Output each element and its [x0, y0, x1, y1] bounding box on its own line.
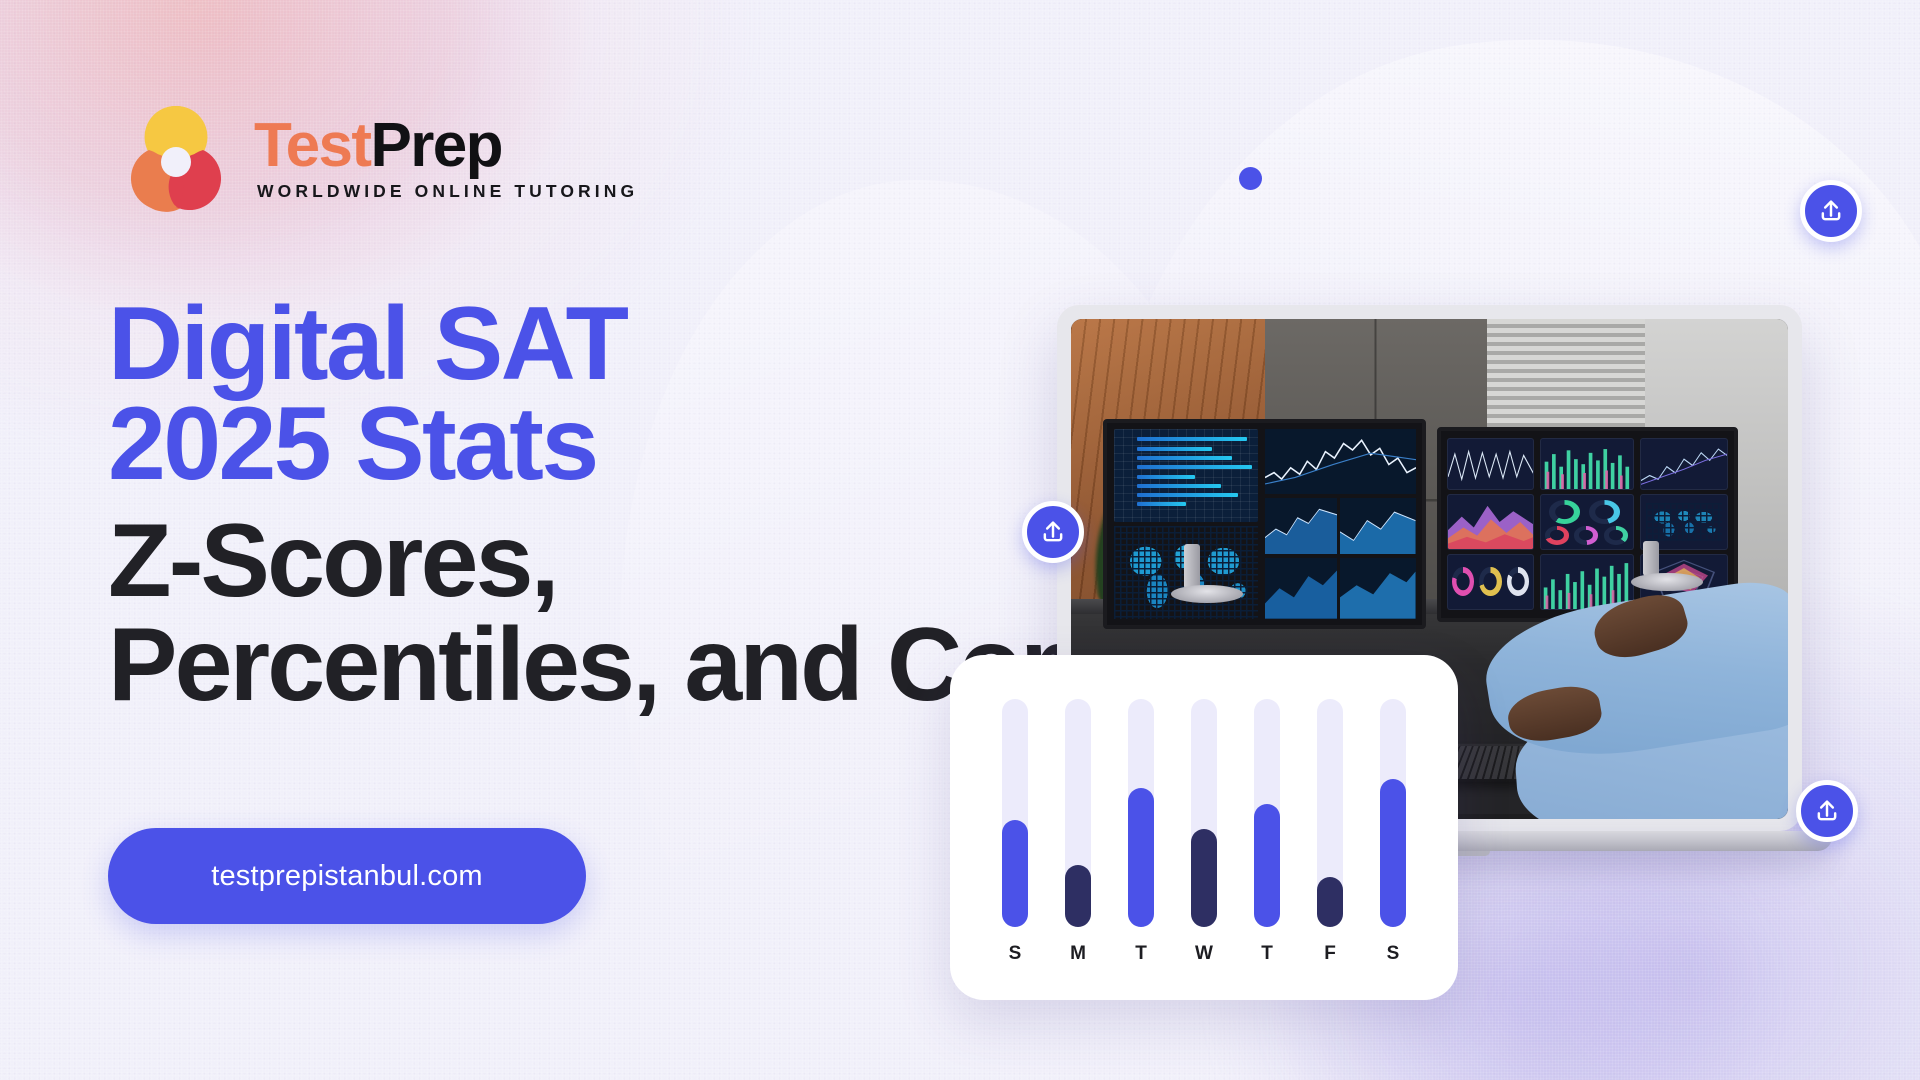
bar-t-4[interactable] — [1254, 804, 1280, 927]
monitor-left-stand-base — [1171, 585, 1243, 603]
headline-line-2: 2025 Stats — [108, 395, 1138, 495]
bar-w-3[interactable] — [1191, 829, 1217, 927]
page-title: Digital SAT 2025 Stats Z-Scores, Percent… — [108, 295, 1138, 717]
monitor-right-stand-neck — [1643, 541, 1659, 577]
upload-icon — [1817, 197, 1845, 225]
bar-chart-plot — [996, 699, 1412, 927]
bar-label: T — [1248, 943, 1286, 965]
monitor2-tile-line — [1640, 438, 1728, 490]
bar-label: F — [1311, 943, 1349, 965]
bar-column[interactable] — [996, 699, 1034, 927]
decorative-blue-dot — [1239, 167, 1262, 190]
upload-badge-bottom-right[interactable] — [1796, 780, 1858, 842]
upload-icon — [1039, 518, 1067, 546]
upload-badge-middle-left[interactable] — [1022, 501, 1084, 563]
bar-s-0[interactable] — [1002, 820, 1028, 927]
bar-label: W — [1185, 943, 1223, 965]
monitor2-tile-mountain — [1447, 494, 1535, 550]
brand-wordmark: TestPrep — [254, 115, 638, 177]
bar-column[interactable] — [1059, 699, 1097, 927]
bar-f-5[interactable] — [1317, 877, 1343, 927]
monitor2-tile-wave — [1447, 438, 1535, 490]
monitor-tile-area-1 — [1265, 498, 1337, 555]
monitor-tile-area-3 — [1265, 558, 1337, 619]
trefoil-circles-logo-icon — [120, 100, 232, 212]
bar-column[interactable] — [1122, 699, 1160, 927]
monitor2-tile-bars — [1540, 438, 1634, 490]
bar-column[interactable] — [1248, 699, 1286, 927]
brand-tagline: WORLDWIDE ONLINE TUTORING — [254, 181, 638, 202]
headline-accent: Digital SAT 2025 Stats — [108, 295, 1138, 495]
headline-line-3: Z-Scores, — [108, 509, 1138, 613]
bar-chart-axis-labels: SMTWTFS — [996, 943, 1412, 965]
brand-name-part1: Test — [254, 111, 370, 180]
upload-badge-top-right[interactable] — [1800, 180, 1862, 242]
headline-line-1: Digital SAT — [108, 295, 1138, 395]
brand-logo[interactable]: TestPrep WORLDWIDE ONLINE TUTORING — [120, 100, 638, 212]
bar-label: T — [1122, 943, 1160, 965]
bar-column[interactable] — [1311, 699, 1349, 927]
monitor-tile-area-2 — [1340, 498, 1416, 555]
bar-column[interactable] — [1185, 699, 1223, 927]
monitor-tile-line — [1265, 429, 1416, 494]
monitor2-tile-donuts — [1447, 554, 1535, 610]
bar-label: M — [1059, 943, 1097, 965]
monitor2-tile-gauges — [1540, 494, 1634, 550]
weekly-bar-chart-card: SMTWTFS — [950, 655, 1458, 1000]
monitor-tile-table — [1114, 429, 1259, 522]
monitor-tile-area-4 — [1340, 558, 1416, 619]
bar-label: S — [996, 943, 1034, 965]
monitor-right-stand-base — [1631, 573, 1703, 591]
upload-icon — [1813, 797, 1841, 825]
website-cta-button[interactable]: testprepistanbul.com — [108, 828, 586, 924]
monitor-left-stand-neck — [1184, 544, 1200, 588]
brand-name-part2: Prep — [370, 111, 501, 180]
bar-s-6[interactable] — [1380, 779, 1406, 927]
bar-label: S — [1374, 943, 1412, 965]
photo-monitor-left — [1103, 419, 1426, 629]
bar-m-1[interactable] — [1065, 865, 1091, 927]
bar-t-2[interactable] — [1128, 788, 1154, 927]
bar-column[interactable] — [1374, 699, 1412, 927]
